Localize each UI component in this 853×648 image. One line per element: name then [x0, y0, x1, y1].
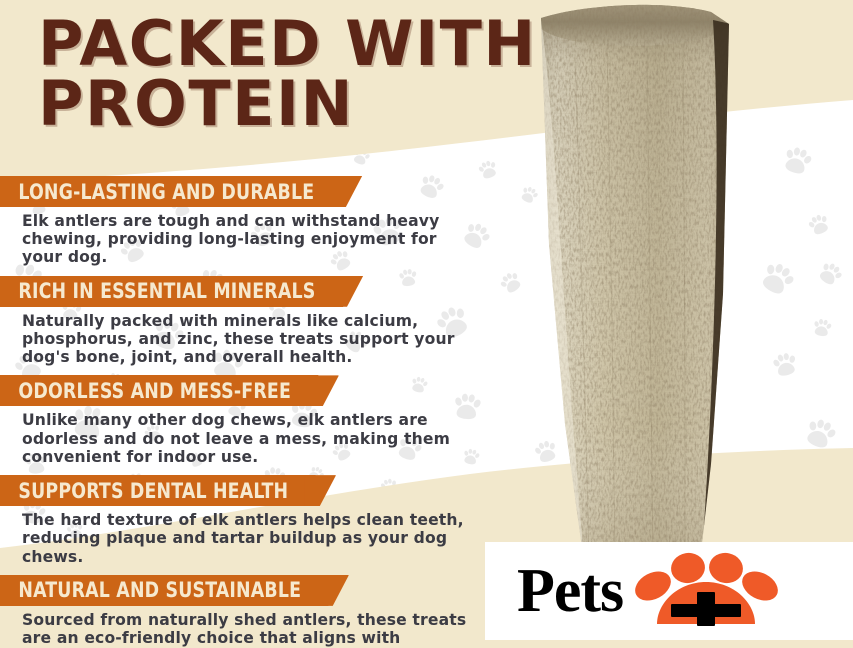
feature-item: SUPPORTS DENTAL HEALTHThe hard texture o… — [0, 475, 500, 566]
feature-heading-banner: ODORLESS AND MESS-FREE — [0, 375, 319, 406]
feature-body-text: Unlike many other dog chews, elk antlers… — [22, 411, 474, 466]
feature-list: LONG-LASTING AND DURABLEElk antlers are … — [0, 176, 500, 648]
feature-item: LONG-LASTING AND DURABLEElk antlers are … — [0, 176, 500, 267]
feature-body-text: The hard texture of elk antlers helps cl… — [22, 511, 474, 566]
feature-heading-text: SUPPORTS DENTAL HEALTH — [18, 479, 288, 503]
infographic-canvas: PACKED WITH PROTEIN LONG-LASTING AND DUR… — [0, 0, 853, 648]
paw-print-icon — [772, 352, 798, 378]
feature-item: ODORLESS AND MESS-FREEUnlike many other … — [0, 375, 500, 466]
feature-heading-text: NATURAL AND SUSTAINABLE — [18, 578, 301, 602]
feature-heading-banner: LONG-LASTING AND DURABLE — [0, 176, 342, 207]
paw-plus-icon — [631, 548, 781, 635]
feature-heading-banner: RICH IN ESSENTIAL MINERALS — [0, 276, 343, 307]
feature-heading-text: RICH IN ESSENTIAL MINERALS — [18, 279, 315, 303]
title-line-2: PROTEIN — [38, 74, 598, 134]
feature-item: NATURAL AND SUSTAINABLESourced from natu… — [0, 575, 500, 648]
feature-heading-banner: SUPPORTS DENTAL HEALTH — [0, 475, 316, 506]
feature-item: RICH IN ESSENTIAL MINERALSNaturally pack… — [0, 276, 500, 367]
paw-print-icon — [812, 318, 832, 338]
feature-heading-banner: NATURAL AND SUSTAINABLE — [0, 575, 329, 606]
page-title: PACKED WITH PROTEIN — [38, 14, 598, 134]
feature-heading-text: LONG-LASTING AND DURABLE — [18, 180, 314, 204]
logo-wordmark: Pets — [517, 560, 623, 622]
feature-heading-text: ODORLESS AND MESS-FREE — [18, 379, 291, 403]
paw-print-icon — [808, 214, 830, 236]
feature-body-text: Elk antlers are tough and can withstand … — [22, 212, 474, 267]
feature-body-text: Naturally packed with minerals like calc… — [22, 312, 474, 367]
brand-logo[interactable]: Pets — [485, 542, 853, 640]
feature-body-text: Sourced from naturally shed antlers, the… — [22, 611, 474, 648]
paw-print-icon — [818, 262, 842, 286]
